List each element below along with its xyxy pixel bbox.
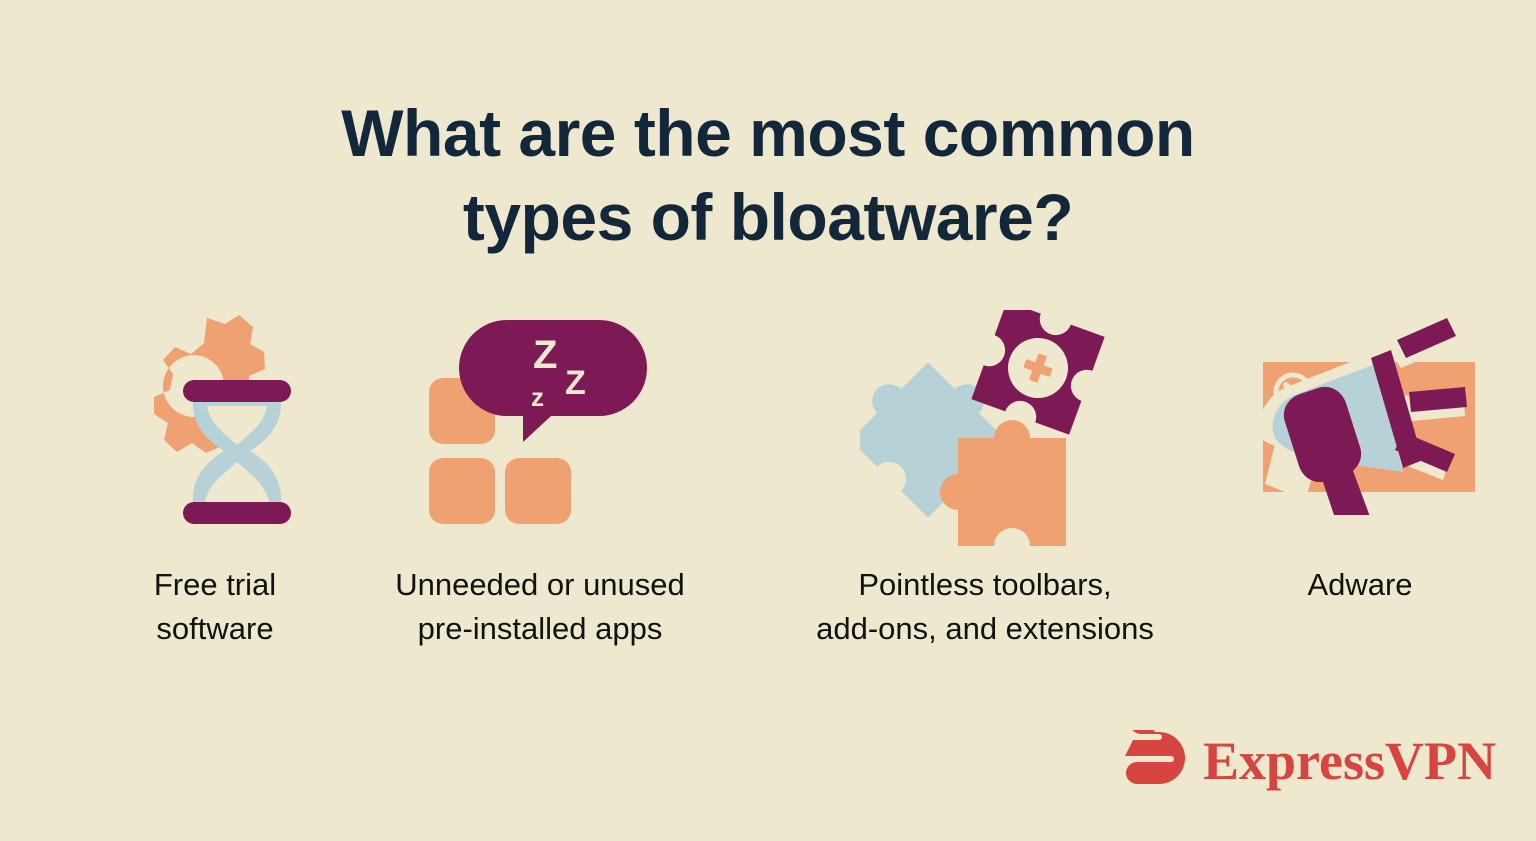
expressvpn-logo[interactable]: ExpressVPN bbox=[1125, 730, 1496, 792]
app-tiles-sleep-bubble-graphic: Z Z z bbox=[425, 310, 655, 545]
puzzle-piece-orange bbox=[940, 420, 1066, 546]
puzzle-piece-purple bbox=[971, 310, 1104, 435]
expressvpn-wordmark: ExpressVPN bbox=[1203, 734, 1496, 788]
bloatware-type-caption: Adware bbox=[1200, 563, 1520, 607]
gear-hourglass-graphic bbox=[115, 310, 315, 540]
infographic-canvas: What are the most common types of bloatw… bbox=[0, 0, 1536, 841]
bloatware-type-caption: Pointless toolbars, add-ons, and extensi… bbox=[790, 563, 1180, 651]
hourglass-cap-top bbox=[183, 380, 291, 402]
bloatware-types-row: Free trial software Z Z z bbox=[0, 310, 1536, 710]
puzzle-pieces-icon bbox=[790, 310, 1180, 555]
expressvpn-e-mark-icon bbox=[1125, 730, 1189, 792]
bloatware-type-caption: Free trial software bbox=[55, 563, 375, 651]
bloatware-type-caption: Unneeded or unused pre-installed apps bbox=[380, 563, 700, 651]
gear-hourglass-icon bbox=[55, 310, 375, 555]
adware-megaphone-graphic bbox=[1245, 310, 1475, 515]
page-title-line-1: What are the most common bbox=[0, 92, 1536, 176]
app-tile-2 bbox=[429, 458, 495, 524]
sleep-z-large: Z bbox=[533, 333, 557, 377]
sleep-z-medium: Z bbox=[565, 364, 586, 402]
bloatware-type-adware: Adware bbox=[1200, 310, 1520, 607]
app-tile-3 bbox=[505, 458, 571, 524]
bloatware-type-free-trial: Free trial software bbox=[55, 310, 375, 651]
hourglass-shape bbox=[183, 380, 291, 524]
app-tiles-sleep-bubble-icon: Z Z z bbox=[380, 310, 700, 555]
hourglass-cap-bottom bbox=[183, 502, 291, 524]
adware-megaphone-icon bbox=[1200, 310, 1520, 555]
page-title-line-2: types of bloatware? bbox=[0, 176, 1536, 260]
page-title: What are the most common types of bloatw… bbox=[0, 92, 1536, 260]
bloatware-type-preinstalled-apps: Z Z z Unneeded or unused pre-installed a… bbox=[380, 310, 700, 651]
puzzle-pieces-graphic bbox=[860, 310, 1110, 555]
bloatware-type-toolbars-addons: Pointless toolbars, add-ons, and extensi… bbox=[790, 310, 1180, 651]
sleep-z-small: z bbox=[531, 382, 544, 412]
